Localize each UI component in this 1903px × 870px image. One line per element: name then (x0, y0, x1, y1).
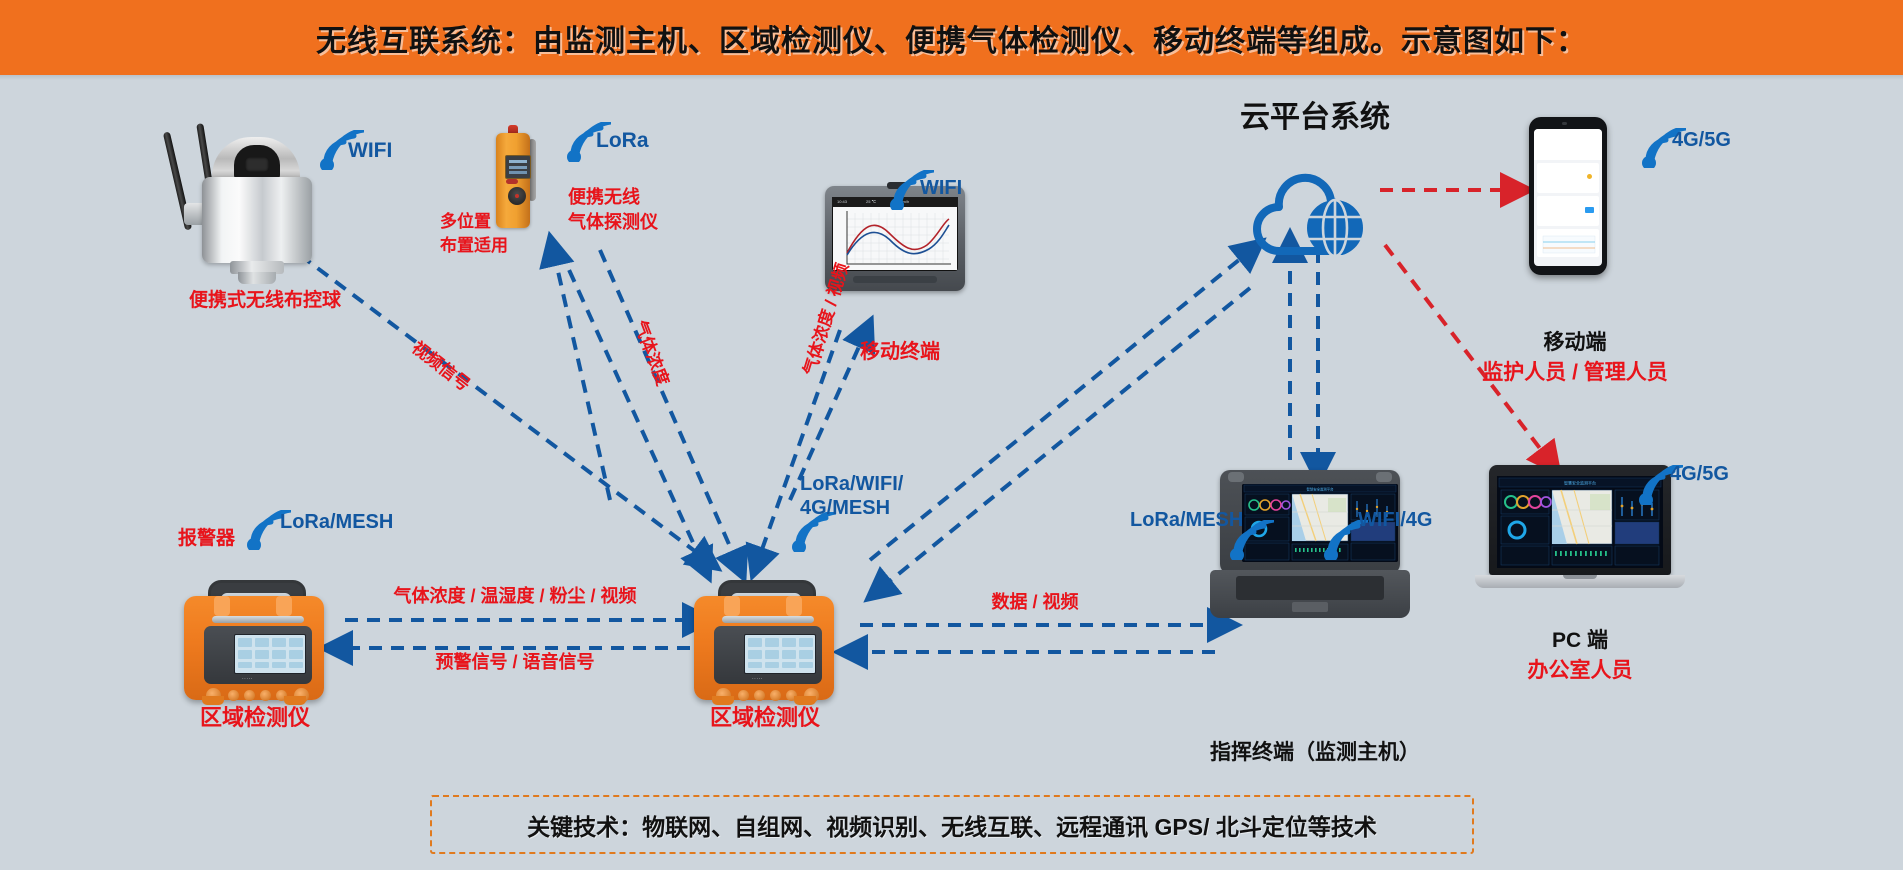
signal-label-ball: WIFI (348, 138, 392, 163)
node-sublabel-mobile-client: 监护人员 / 管理人员 (1430, 360, 1720, 385)
signal-label-center-line1: LoRa/WIFI/ (800, 472, 903, 496)
phone-tabs (1534, 152, 1602, 160)
rugged-corner-left (1228, 472, 1244, 482)
rugged-corner-right (1376, 472, 1392, 482)
cloud-platform-icon (1243, 155, 1383, 255)
detector-case: ····· (184, 596, 324, 700)
edge-label-data-video: 数据 / 视频 (920, 592, 1150, 614)
signal-label-center-line2: 4G/MESH (800, 496, 890, 520)
detector-brand-mark: ····· (752, 676, 763, 682)
detector-latch-right (786, 596, 802, 616)
tablet-status-temp: 25 ℃ (866, 199, 876, 204)
detector-brand-mark: ····· (242, 676, 253, 682)
key-technology-text: 关键技术：物联网、自组网、视频识别、无线互联、远程通讯 GPS/ 北斗定位等技术 (527, 808, 1377, 842)
node-label-command-terminal: 指挥终端（监测主机） (1150, 740, 1480, 765)
node-label-area-detector-left: 区域检测仪 (160, 705, 350, 731)
edge-label-video-signal: 视频信号 (407, 338, 473, 396)
edge-label-detector-top: 气体浓度 / 温湿度 / 粉尘 / 视频 (355, 586, 675, 608)
header-banner: 无线互联系统：由监测主机、区域检测仪、便携气体检测仪、移动终端等组成。示意图如下… (0, 0, 1903, 75)
phone-speaker-icon (1562, 122, 1567, 125)
tablet-chart-svg (833, 207, 957, 270)
ptz-camera-ball (160, 115, 330, 280)
detector-foot-right (284, 696, 306, 705)
detector-power-button (506, 179, 518, 184)
detector-latch-left (724, 596, 740, 616)
area-detector-left: ····· (180, 580, 328, 708)
node-label-gas-detector-line1: 便携无线 (568, 187, 640, 209)
node-label-pc-client: PC 端 (1465, 628, 1695, 653)
signal-label-alarm: LoRa/MESH (280, 510, 393, 534)
detector-foot-left (202, 696, 224, 705)
note-alarm: 报警器 (178, 528, 235, 551)
node-label-mobile-client: 移动端 (1460, 330, 1690, 355)
header-shadow (0, 75, 1903, 80)
node-label-tablet: 移动终端 (830, 340, 970, 364)
detector-case: ····· (694, 596, 834, 700)
detector-foot-left (712, 696, 734, 705)
tablet-chart-screen (833, 207, 957, 270)
diagram-canvas: 无线互联系统：由监测主机、区域检测仪、便携气体检测仪、移动终端等组成。示意图如下… (0, 0, 1903, 870)
detector-front-panel: ····· (714, 626, 822, 684)
signal-label-command-right: WIFI/4G (1358, 508, 1432, 532)
phone-card-top (1537, 163, 1599, 193)
key-technology-box: 关键技术：物联网、自组网、视频识别、无线互联、远程通讯 GPS/ 北斗定位等技术 (430, 795, 1474, 854)
svg-text:智慧安全监测平台: 智慧安全监测平台 (1564, 480, 1596, 486)
note-gas-detector-line1: 多位置 (440, 212, 491, 232)
tablet-function-buttons (853, 276, 937, 283)
rugged-keyboard (1236, 576, 1384, 600)
page-title: 无线互联系统：由监测主机、区域检测仪、便携气体检测仪、移动终端等组成。示意图如下… (316, 16, 1587, 60)
detector-front-panel: ····· (204, 626, 312, 684)
detector-latch-left (214, 596, 230, 616)
camera-body (202, 177, 312, 263)
camera-base (238, 272, 276, 284)
detector-screen (505, 155, 531, 179)
laptop-base-notch (1563, 575, 1597, 579)
detector-foot-right (794, 696, 816, 705)
tablet-status-time: 10:43 (837, 199, 847, 204)
edge-label-gas-concentration-left: 气体浓度 (629, 318, 672, 389)
detector-latch-right (276, 596, 292, 616)
area-detector-center: ····· (690, 580, 838, 708)
mobile-client-phone (1529, 117, 1607, 275)
detector-keypad (508, 187, 526, 205)
signal-label-tablet: WIFI (920, 176, 962, 200)
rugged-touchpad (1292, 602, 1328, 612)
signal-label-pc: 4G/5G (1670, 462, 1729, 486)
node-label-area-detector-center: 区域检测仪 (670, 705, 860, 731)
note-gas-detector-line2: 布置适用 (440, 236, 508, 256)
detector-vent (722, 616, 814, 623)
node-sublabel-pc-client: 办公室人员 (1465, 658, 1695, 683)
signal-label-phone: 4G/5G (1672, 128, 1731, 152)
phone-card-chart (1537, 229, 1599, 257)
phone-card-middle (1537, 196, 1599, 226)
phone-chart (1537, 229, 1599, 257)
signal-label-gas-detector: LoRa (596, 128, 649, 153)
phone-screen (1534, 129, 1602, 266)
svg-text:智慧安全监测平台: 智慧安全监测平台 (1306, 487, 1334, 492)
node-label-gas-detector-line2: 气体探测仪 (568, 212, 658, 234)
node-label-ptz-ball: 便携式无线布控球 (150, 290, 380, 313)
globe-icon (1307, 200, 1363, 255)
portable-gas-detector (492, 125, 538, 230)
detector-display (744, 634, 816, 674)
node-label-cloud-platform: 云平台系统 (1185, 100, 1445, 136)
detector-vent (212, 616, 304, 623)
detector-display (234, 634, 306, 674)
edge-label-detector-bottom: 预警信号 / 语音信号 (375, 652, 655, 674)
detector-body (496, 133, 530, 228)
signal-label-command-left: LoRa/MESH (1130, 508, 1243, 532)
camera-lens-icon (234, 145, 280, 181)
